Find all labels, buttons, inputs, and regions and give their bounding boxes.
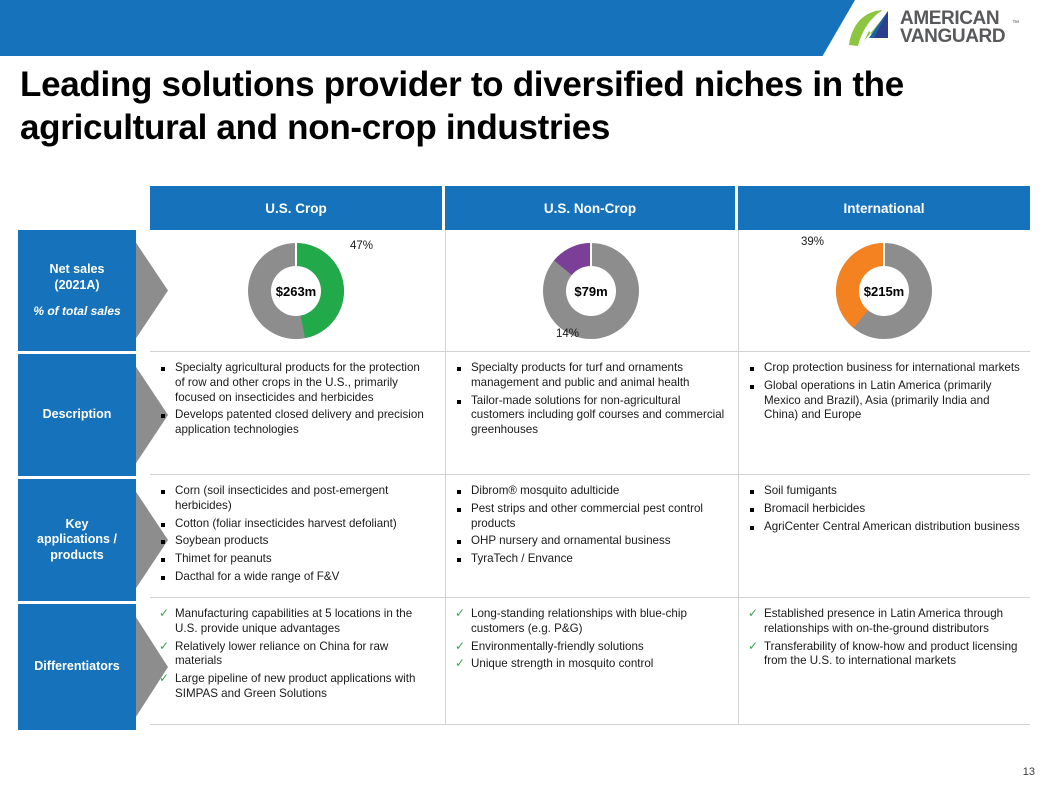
list-item-text: Unique strength in mosquito control bbox=[471, 657, 653, 670]
square-bullet-icon bbox=[457, 490, 461, 494]
check-icon: ✓ bbox=[748, 639, 758, 654]
row-label-box: Key applications / products bbox=[18, 479, 136, 601]
square-bullet-icon bbox=[161, 523, 165, 527]
check-icon: ✓ bbox=[159, 606, 169, 621]
matrix-row-differentiators: ✓Manufacturing capabilities at 5 locatio… bbox=[150, 597, 1030, 725]
list-item-text: Soil fumigants bbox=[764, 484, 837, 497]
key-applications-cell-international: Soil fumigantsBromacil herbicidesAgriCen… bbox=[738, 475, 1030, 597]
square-bullet-icon bbox=[457, 508, 461, 512]
donut-chart-us-crop: $263m bbox=[248, 243, 344, 339]
square-bullet-icon bbox=[161, 490, 165, 494]
check-icon: ✓ bbox=[748, 606, 758, 621]
list-item-text: Long-standing relationships with blue-ch… bbox=[471, 607, 687, 635]
list-item: OHP nursery and ornamental business bbox=[452, 534, 725, 549]
header-bar bbox=[0, 0, 855, 56]
list-item: Bromacil herbicides bbox=[745, 502, 1020, 517]
donut-pct-us-crop: 47% bbox=[350, 240, 373, 252]
square-bullet-icon bbox=[457, 367, 461, 371]
differentiators-cell-international: ✓Established presence in Latin America t… bbox=[738, 598, 1030, 724]
key-applications-cell-us-crop: Corn (soil insecticides and post-emergen… bbox=[150, 475, 442, 597]
list-item-text: AgriCenter Central American distribution… bbox=[764, 520, 1020, 533]
list-item: ✓Unique strength in mosquito control bbox=[452, 657, 725, 672]
list-item-text: Tailor-made solutions for non-agricultur… bbox=[471, 394, 724, 437]
list-item-text: Dacthal for a wide range of F&V bbox=[175, 570, 339, 583]
net-sales-cell-us-non-crop: $79m 14% bbox=[445, 230, 735, 351]
list-item: Specialty agricultural products for the … bbox=[156, 361, 432, 405]
list-item: Cotton (foliar insecticides harvest defo… bbox=[156, 517, 432, 532]
list-item-text: Manufacturing capabilities at 5 location… bbox=[175, 607, 412, 635]
bullet-list: ✓Long-standing relationships with blue-c… bbox=[452, 607, 725, 672]
column-header-international: International bbox=[738, 186, 1030, 230]
list-item: Soybean products bbox=[156, 534, 432, 549]
list-item-text: Corn (soil insecticides and post-emergen… bbox=[175, 484, 388, 512]
logo-line-2: VANGUARD bbox=[900, 28, 1005, 46]
net-sales-cell-us-crop: $263m 47% bbox=[150, 230, 442, 351]
american-vanguard-logo: AMERICAN VANGUARD ™ bbox=[847, 6, 1039, 50]
list-item: ✓Transferability of know-how and product… bbox=[745, 640, 1020, 670]
list-item-text: TyraTech / Envance bbox=[471, 552, 573, 565]
list-item: Crop protection business for internation… bbox=[745, 361, 1020, 376]
row-label-net-sales-sub: % of total sales bbox=[33, 304, 120, 319]
donut-center-label-international: $215m bbox=[836, 243, 932, 339]
bullet-list: Specialty agricultural products for the … bbox=[156, 361, 432, 438]
list-item: Develops patented closed delivery and pr… bbox=[156, 408, 432, 438]
square-bullet-icon bbox=[161, 558, 165, 562]
check-icon: ✓ bbox=[455, 606, 465, 621]
list-item: ✓Manufacturing capabilities at 5 locatio… bbox=[156, 607, 432, 637]
list-item: Global operations in Latin America (prim… bbox=[745, 379, 1020, 423]
list-item-text: Pest strips and other commercial pest co… bbox=[471, 502, 703, 530]
list-item-text: Established presence in Latin America th… bbox=[764, 607, 1003, 635]
column-header-us-non-crop: U.S. Non-Crop bbox=[445, 186, 735, 230]
square-bullet-icon bbox=[750, 367, 754, 371]
matrix-row-key-applications: Corn (soil insecticides and post-emergen… bbox=[150, 474, 1030, 597]
list-item-text: Soybean products bbox=[175, 534, 268, 547]
square-bullet-icon bbox=[750, 490, 754, 494]
list-item: Tailor-made solutions for non-agricultur… bbox=[452, 394, 725, 438]
list-item: Dacthal for a wide range of F&V bbox=[156, 570, 432, 585]
list-item-text: Large pipeline of new product applicatio… bbox=[175, 672, 415, 700]
list-item-text: Specialty products for turf and ornament… bbox=[471, 361, 690, 389]
check-icon: ✓ bbox=[455, 656, 465, 671]
list-item-text: Thimet for peanuts bbox=[175, 552, 272, 565]
list-item-text: OHP nursery and ornamental business bbox=[471, 534, 671, 547]
donut-center-label-us-non-crop: $79m bbox=[543, 243, 639, 339]
key-applications-cell-us-non-crop: Dibrom® mosquito adulticidePest strips a… bbox=[445, 475, 735, 597]
description-cell-us-crop: Specialty agricultural products for the … bbox=[150, 352, 442, 474]
list-item-text: Develops patented closed delivery and pr… bbox=[175, 408, 424, 436]
row-label-net-sales-line1: Net sales bbox=[50, 262, 105, 278]
row-label-differentiators-text: Differentiators bbox=[34, 659, 119, 675]
check-icon: ✓ bbox=[159, 639, 169, 654]
list-item-text: Relatively lower reliance on China for r… bbox=[175, 640, 388, 668]
list-item-text: Specialty agricultural products for the … bbox=[175, 361, 420, 404]
row-label-box: Net sales (2021A) % of total sales bbox=[18, 230, 136, 351]
matrix-row-description: Specialty agricultural products for the … bbox=[150, 351, 1030, 474]
list-item: ✓Long-standing relationships with blue-c… bbox=[452, 607, 725, 637]
page-title: Leading solutions provider to diversifie… bbox=[20, 64, 1020, 149]
list-item-text: Global operations in Latin America (prim… bbox=[764, 379, 991, 422]
square-bullet-icon bbox=[457, 558, 461, 562]
square-bullet-icon bbox=[161, 367, 165, 371]
list-item-text: Cotton (foliar insecticides harvest defo… bbox=[175, 517, 397, 530]
row-label-box: Description bbox=[18, 354, 136, 476]
square-bullet-icon bbox=[161, 576, 165, 580]
row-label-key-apps-line3: products bbox=[50, 548, 103, 564]
list-item: Specialty products for turf and ornament… bbox=[452, 361, 725, 391]
row-label-description-text: Description bbox=[43, 407, 112, 423]
square-bullet-icon bbox=[457, 540, 461, 544]
net-sales-cell-international: $215m 39% bbox=[738, 230, 1030, 351]
logo-mark-icon bbox=[847, 8, 893, 48]
square-bullet-icon bbox=[161, 540, 165, 544]
check-icon: ✓ bbox=[455, 639, 465, 654]
donut-chart-us-non-crop: $79m bbox=[543, 243, 639, 339]
bullet-list: Corn (soil insecticides and post-emergen… bbox=[156, 484, 432, 585]
matrix-row-net-sales: $263m 47% $79m 14% bbox=[150, 230, 1030, 351]
list-item: ✓Relatively lower reliance on China for … bbox=[156, 640, 432, 670]
square-bullet-icon bbox=[750, 385, 754, 389]
comparison-matrix: U.S. Crop U.S. Non-Crop International $2… bbox=[150, 186, 1030, 725]
bullet-list: Specialty products for turf and ornament… bbox=[452, 361, 725, 438]
differentiators-cell-us-non-crop: ✓Long-standing relationships with blue-c… bbox=[445, 598, 735, 724]
list-item-text: Dibrom® mosquito adulticide bbox=[471, 484, 619, 497]
logo-wordmark: AMERICAN VANGUARD bbox=[900, 10, 1005, 46]
column-header-us-crop: U.S. Crop bbox=[150, 186, 442, 230]
bullet-list: Dibrom® mosquito adulticidePest strips a… bbox=[452, 484, 725, 567]
list-item: Corn (soil insecticides and post-emergen… bbox=[156, 484, 432, 514]
list-item: TyraTech / Envance bbox=[452, 552, 725, 567]
list-item: ✓Large pipeline of new product applicati… bbox=[156, 672, 432, 702]
donut-pct-us-non-crop: 14% bbox=[556, 328, 579, 340]
list-item: ✓Established presence in Latin America t… bbox=[745, 607, 1020, 637]
list-item: ✓Environmentally-friendly solutions bbox=[452, 640, 725, 655]
list-item-text: Transferability of know-how and product … bbox=[764, 640, 1017, 668]
square-bullet-icon bbox=[750, 508, 754, 512]
square-bullet-icon bbox=[750, 526, 754, 530]
row-label-box: Differentiators bbox=[18, 604, 136, 730]
list-item: Pest strips and other commercial pest co… bbox=[452, 502, 725, 532]
list-item: Thimet for peanuts bbox=[156, 552, 432, 567]
list-item: Soil fumigants bbox=[745, 484, 1020, 499]
list-item-text: Bromacil herbicides bbox=[764, 502, 865, 515]
donut-center-label-us-crop: $263m bbox=[248, 243, 344, 339]
row-label-key-apps-line2: applications / bbox=[37, 532, 117, 548]
page-number: 13 bbox=[1023, 766, 1035, 778]
bullet-list: Soil fumigantsBromacil herbicidesAgriCen… bbox=[745, 484, 1020, 534]
logo-trademark: ™ bbox=[1012, 20, 1019, 27]
description-cell-us-non-crop: Specialty products for turf and ornament… bbox=[445, 352, 735, 474]
bullet-list: ✓Established presence in Latin America t… bbox=[745, 607, 1020, 669]
bullet-list: Crop protection business for internation… bbox=[745, 361, 1020, 423]
list-item: Dibrom® mosquito adulticide bbox=[452, 484, 725, 499]
check-icon: ✓ bbox=[159, 671, 169, 686]
donut-chart-international: $215m bbox=[836, 243, 932, 339]
differentiators-cell-us-crop: ✓Manufacturing capabilities at 5 locatio… bbox=[150, 598, 442, 724]
list-item-text: Crop protection business for internation… bbox=[764, 361, 1020, 374]
donut-pct-international: 39% bbox=[801, 236, 824, 248]
description-cell-international: Crop protection business for internation… bbox=[738, 352, 1030, 474]
bullet-list: ✓Manufacturing capabilities at 5 locatio… bbox=[156, 607, 432, 702]
row-label-key-apps-line1: Key bbox=[66, 517, 89, 533]
matrix-header-row: U.S. Crop U.S. Non-Crop International bbox=[150, 186, 1030, 230]
square-bullet-icon bbox=[457, 400, 461, 404]
row-label-net-sales-line2: (2021A) bbox=[54, 278, 99, 294]
list-item-text: Environmentally-friendly solutions bbox=[471, 640, 644, 653]
list-item: AgriCenter Central American distribution… bbox=[745, 520, 1020, 535]
square-bullet-icon bbox=[161, 414, 165, 418]
